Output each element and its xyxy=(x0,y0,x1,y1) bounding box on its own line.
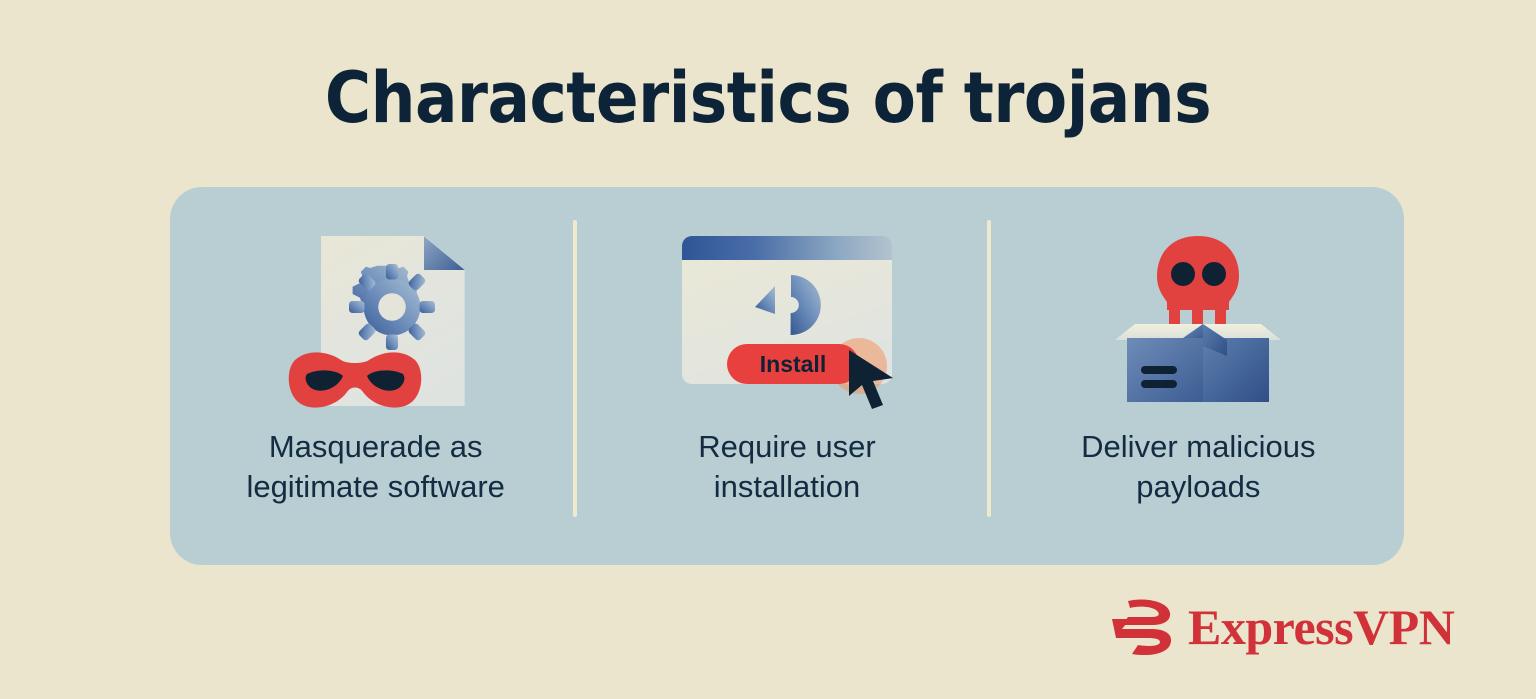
characteristic-column-2: Install Require user installation xyxy=(581,187,992,565)
window-title-bar xyxy=(682,236,892,260)
characteristic-caption-3: Deliver malicious payloads xyxy=(993,427,1404,507)
install-window-icon: Install xyxy=(581,220,992,420)
open-box-icon xyxy=(1115,316,1281,412)
characteristic-column-1: Masquerade as legitimate software xyxy=(170,187,581,565)
page-title: Characteristics of trojans xyxy=(0,55,1536,141)
caption-line-1: Deliver malicious xyxy=(993,427,1404,467)
caption-line-2: installation xyxy=(581,467,992,507)
characteristic-caption-1: Masquerade as legitimate software xyxy=(170,427,581,507)
payload-box-graphic xyxy=(1115,234,1281,409)
caption-line-2: payloads xyxy=(993,467,1404,507)
document-graphic xyxy=(321,236,465,406)
caption-line-1: Masquerade as xyxy=(170,427,581,467)
gear-icon xyxy=(349,264,435,350)
skull-in-box-icon xyxy=(993,220,1404,420)
expressvpn-logo: ExpressVPN xyxy=(1108,596,1418,658)
cursor-arrow-icon xyxy=(845,348,897,410)
expressvpn-logo-icon xyxy=(1108,599,1174,655)
bandit-mask-icon xyxy=(285,348,425,410)
characteristic-column-3: Deliver malicious payloads xyxy=(993,187,1404,565)
caption-line-2: legitimate software xyxy=(170,467,581,507)
masked-document-icon xyxy=(170,220,581,420)
caption-line-1: Require user xyxy=(581,427,992,467)
pie-chart-logo-icon xyxy=(749,270,825,340)
characteristics-panel: Masquerade as legitimate software xyxy=(170,187,1404,565)
install-button[interactable]: Install xyxy=(727,344,859,384)
expressvpn-wordmark: ExpressVPN xyxy=(1188,602,1454,652)
characteristic-caption-2: Require user installation xyxy=(581,427,992,507)
